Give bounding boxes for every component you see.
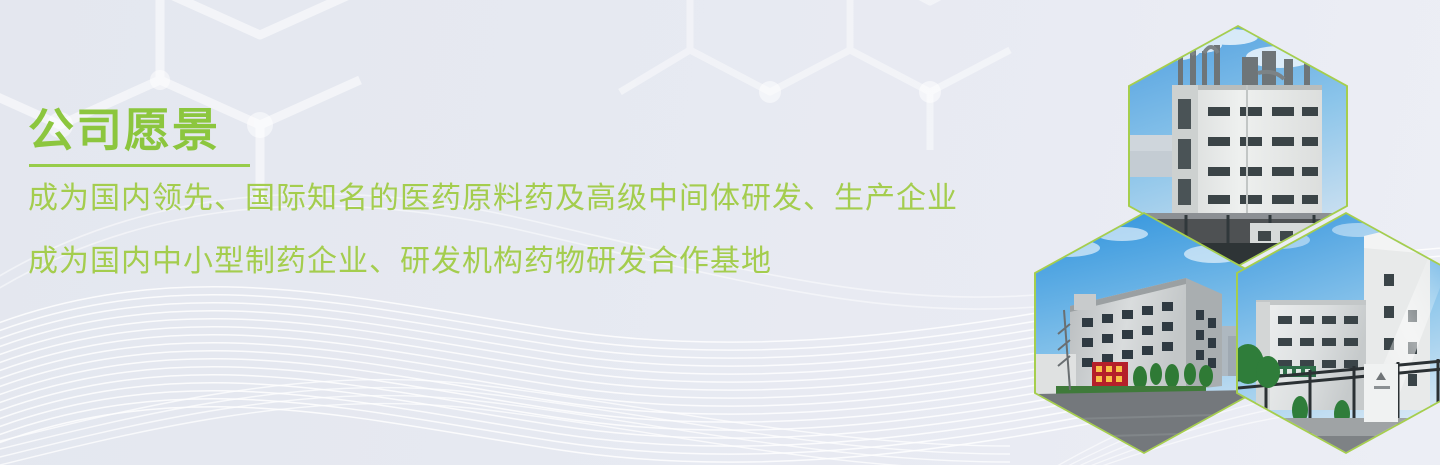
vision-statement-1: 成为国内领先、国际知名的医药原料药及高级中间体研发、生产企业 <box>28 181 1028 218</box>
vision-text-block: 公司愿景 成为国内领先、国际知名的医药原料药及高级中间体研发、生产企业 成为国内… <box>28 103 1028 280</box>
title-underline-rule <box>29 164 250 167</box>
page-title: 公司愿景 <box>28 103 220 163</box>
company-vision-banner: 公司愿景 成为国内领先、国际知名的医药原料药及高级中间体研发、生产企业 成为国内… <box>0 0 1440 465</box>
vision-statement-2: 成为国内中小型制药企业、研发机构药物研发合作基地 <box>28 244 1028 281</box>
hexagon-photo-cluster <box>1020 0 1440 465</box>
